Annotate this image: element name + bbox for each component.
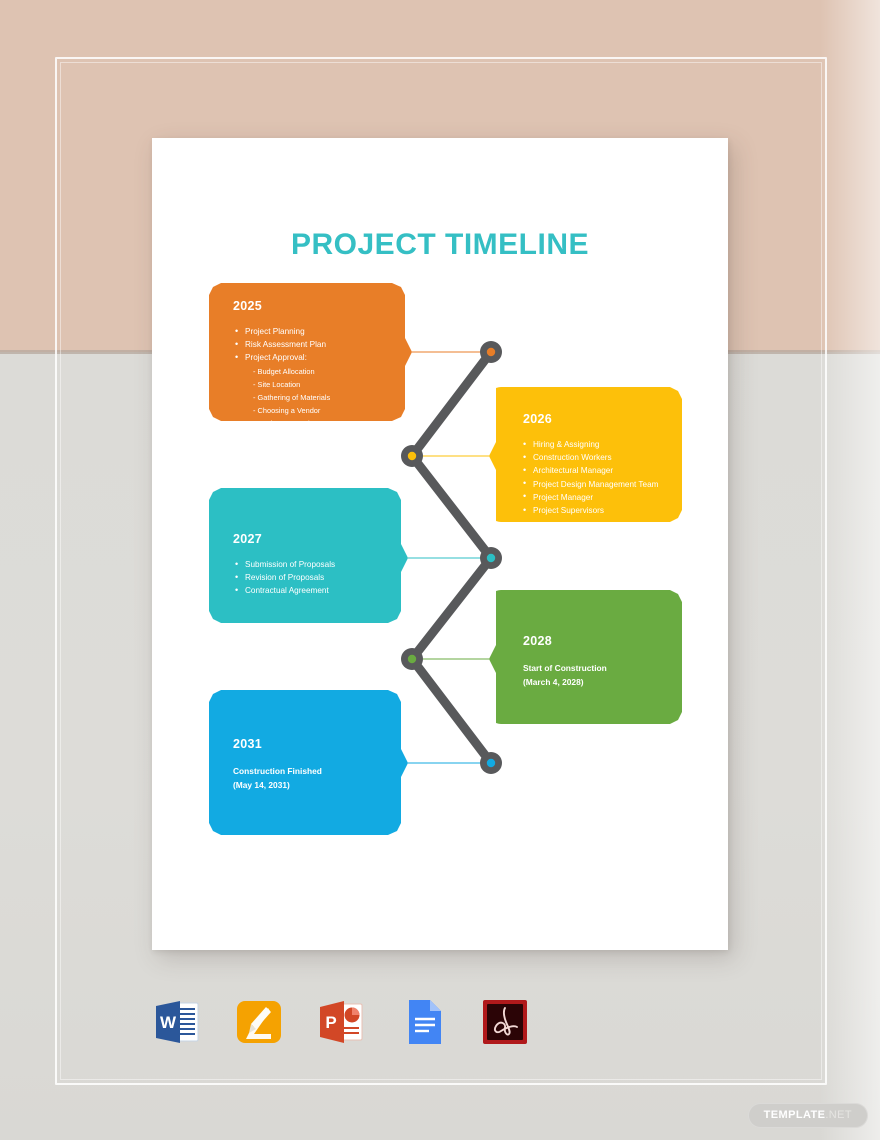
- list-item: Revision of Proposals: [235, 571, 335, 584]
- milestone-card-2028[interactable]: 2028 Start of Construction (March 4, 202…: [489, 590, 682, 724]
- svg-text:P: P: [325, 1013, 336, 1032]
- milestone-card-2025[interactable]: 2025 Project Planning Risk Assessment Pl…: [209, 283, 412, 421]
- milestone-body-2031: Construction Finished (May 14, 2031): [233, 765, 322, 792]
- list-item: Project Design Management Team: [523, 478, 658, 491]
- format-apple-pages[interactable]: [232, 995, 286, 1049]
- format-google-docs[interactable]: [396, 995, 450, 1049]
- list-item: - Site Location: [235, 378, 330, 391]
- watermark-tld: .NET: [825, 1109, 852, 1121]
- list-item: Construction Workers: [523, 451, 658, 464]
- watermark-brand: TEMPLATE: [764, 1109, 826, 1121]
- format-microsoft-powerpoint[interactable]: P: [314, 995, 368, 1049]
- microsoft-word-icon: W: [150, 995, 204, 1049]
- milestone-year-2026: 2026: [523, 412, 552, 426]
- list-item: Project Planning: [235, 325, 330, 338]
- google-docs-icon: [396, 995, 450, 1049]
- milestone-card-2027[interactable]: 2027 Submission of Proposals Revision of…: [209, 488, 408, 623]
- list-item: - Choosing a Vendor: [235, 404, 330, 417]
- node-2026: [401, 445, 423, 467]
- adobe-pdf-icon: [478, 995, 532, 1049]
- milestone-year-2028: 2028: [523, 634, 552, 648]
- list-item: Project Approval:: [235, 351, 330, 364]
- node-2027: [480, 547, 502, 569]
- watermark-badge: TEMPLATE.NET: [748, 1103, 868, 1128]
- list-item: Architectural Manager: [523, 464, 658, 477]
- list-item: - Budget Allocation: [235, 365, 330, 378]
- list-item: - Gathering of Materials: [235, 391, 330, 404]
- list-item: Project Manager: [523, 491, 658, 504]
- microsoft-powerpoint-icon: P: [314, 995, 368, 1049]
- milestone-year-2025: 2025: [233, 299, 262, 313]
- list-item: Contractual Agreement: [235, 584, 335, 597]
- milestone-items-2027: Submission of Proposals Revision of Prop…: [235, 558, 335, 598]
- list-item: Hiring & Assigning: [523, 438, 658, 451]
- list-item: Risk Assessment Plan: [235, 338, 330, 351]
- milestone-card-2031[interactable]: 2031 Construction Finished (May 14, 2031…: [209, 690, 408, 835]
- node-2025: [480, 341, 502, 363]
- apple-pages-icon: [232, 995, 286, 1049]
- node-2031: [480, 752, 502, 774]
- svg-text:W: W: [160, 1013, 177, 1032]
- format-microsoft-word[interactable]: W: [150, 995, 204, 1049]
- document-sheet: PROJECT TIMELINE: [152, 138, 728, 950]
- screenshot-root: PROJECT TIMELINE: [0, 0, 880, 1140]
- list-item: Project Supervisors: [523, 504, 658, 517]
- node-2028: [401, 648, 423, 670]
- format-adobe-pdf[interactable]: [478, 995, 532, 1049]
- list-item: Submission of Proposals: [235, 558, 335, 571]
- milestone-card-2026[interactable]: 2026 Hiring & Assigning Construction Wor…: [489, 387, 682, 522]
- milestone-year-2031: 2031: [233, 737, 262, 751]
- milestone-items-2026: Hiring & Assigning Construction Workers …: [523, 438, 658, 517]
- format-icon-row: W P: [150, 992, 550, 1052]
- milestone-body-2028: Start of Construction (March 4, 2028): [523, 662, 607, 689]
- milestone-items-2025: Project Planning Risk Assessment Plan Pr…: [235, 325, 330, 430]
- milestone-year-2027: 2027: [233, 532, 262, 546]
